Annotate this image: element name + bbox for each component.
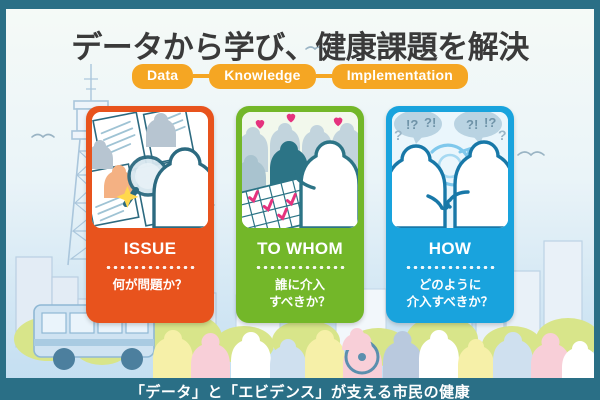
- card-title-how: HOW: [429, 239, 471, 259]
- to-whom-illustration: [242, 112, 358, 228]
- svg-text:!?: !?: [484, 115, 496, 130]
- process-pill-chain: Data Knowledge Implementation: [0, 64, 600, 89]
- card-subtitle-issue: 何が問題か？: [112, 277, 187, 294]
- svg-text:?!: ?!: [424, 115, 436, 130]
- pill-knowledge: Knowledge: [209, 64, 315, 89]
- card-subtitle-to-whom: 誰に介入 すべきか？: [269, 277, 331, 311]
- two-people-conversation-icon: !? ?! ?! !? ? ?: [392, 112, 508, 228]
- documents-magnifier-person-icon: [92, 112, 208, 228]
- crowd-checklist-person-icon: [242, 112, 358, 228]
- card-title-to-whom: TO WHOM: [257, 239, 343, 259]
- card-title-issue: ISSUE: [124, 239, 177, 259]
- card-row: ISSUE 何が問題か？: [0, 106, 600, 323]
- card-issue[interactable]: ISSUE 何が問題か？: [86, 106, 214, 323]
- card-subtitle-how: どのように 介入すべきか？: [407, 277, 494, 311]
- dot-divider: [255, 266, 345, 269]
- poster: データから学び、健康課題を解決 Data Knowledge Implement…: [0, 0, 600, 400]
- svg-text:?: ?: [498, 127, 507, 143]
- bottom-caption: 「データ」と「エビデンス」が支える市民の健康: [0, 381, 600, 400]
- card-how[interactable]: !? ?! ?! !? ? ?: [386, 106, 514, 323]
- how-illustration: !? ?! ?! !? ? ?: [392, 112, 508, 228]
- svg-text:?!: ?!: [466, 117, 478, 132]
- pill-data: Data: [132, 64, 193, 89]
- dot-divider: [405, 266, 495, 269]
- pill-connector-icon: [316, 74, 332, 78]
- card-to-whom[interactable]: TO WHOM 誰に介入 すべきか？: [236, 106, 364, 323]
- issue-illustration: [92, 112, 208, 228]
- page-title: データから学び、健康課題を解決: [0, 22, 600, 67]
- dot-divider: [105, 266, 195, 269]
- bottom-teal-band: 「データ」と「エビデンス」が支える市民の健康: [0, 378, 600, 400]
- pill-implementation: Implementation: [332, 64, 468, 89]
- pill-connector-icon: [193, 74, 209, 78]
- svg-text:?: ?: [394, 127, 403, 143]
- top-teal-band: [0, 0, 600, 9]
- svg-text:!?: !?: [406, 117, 418, 132]
